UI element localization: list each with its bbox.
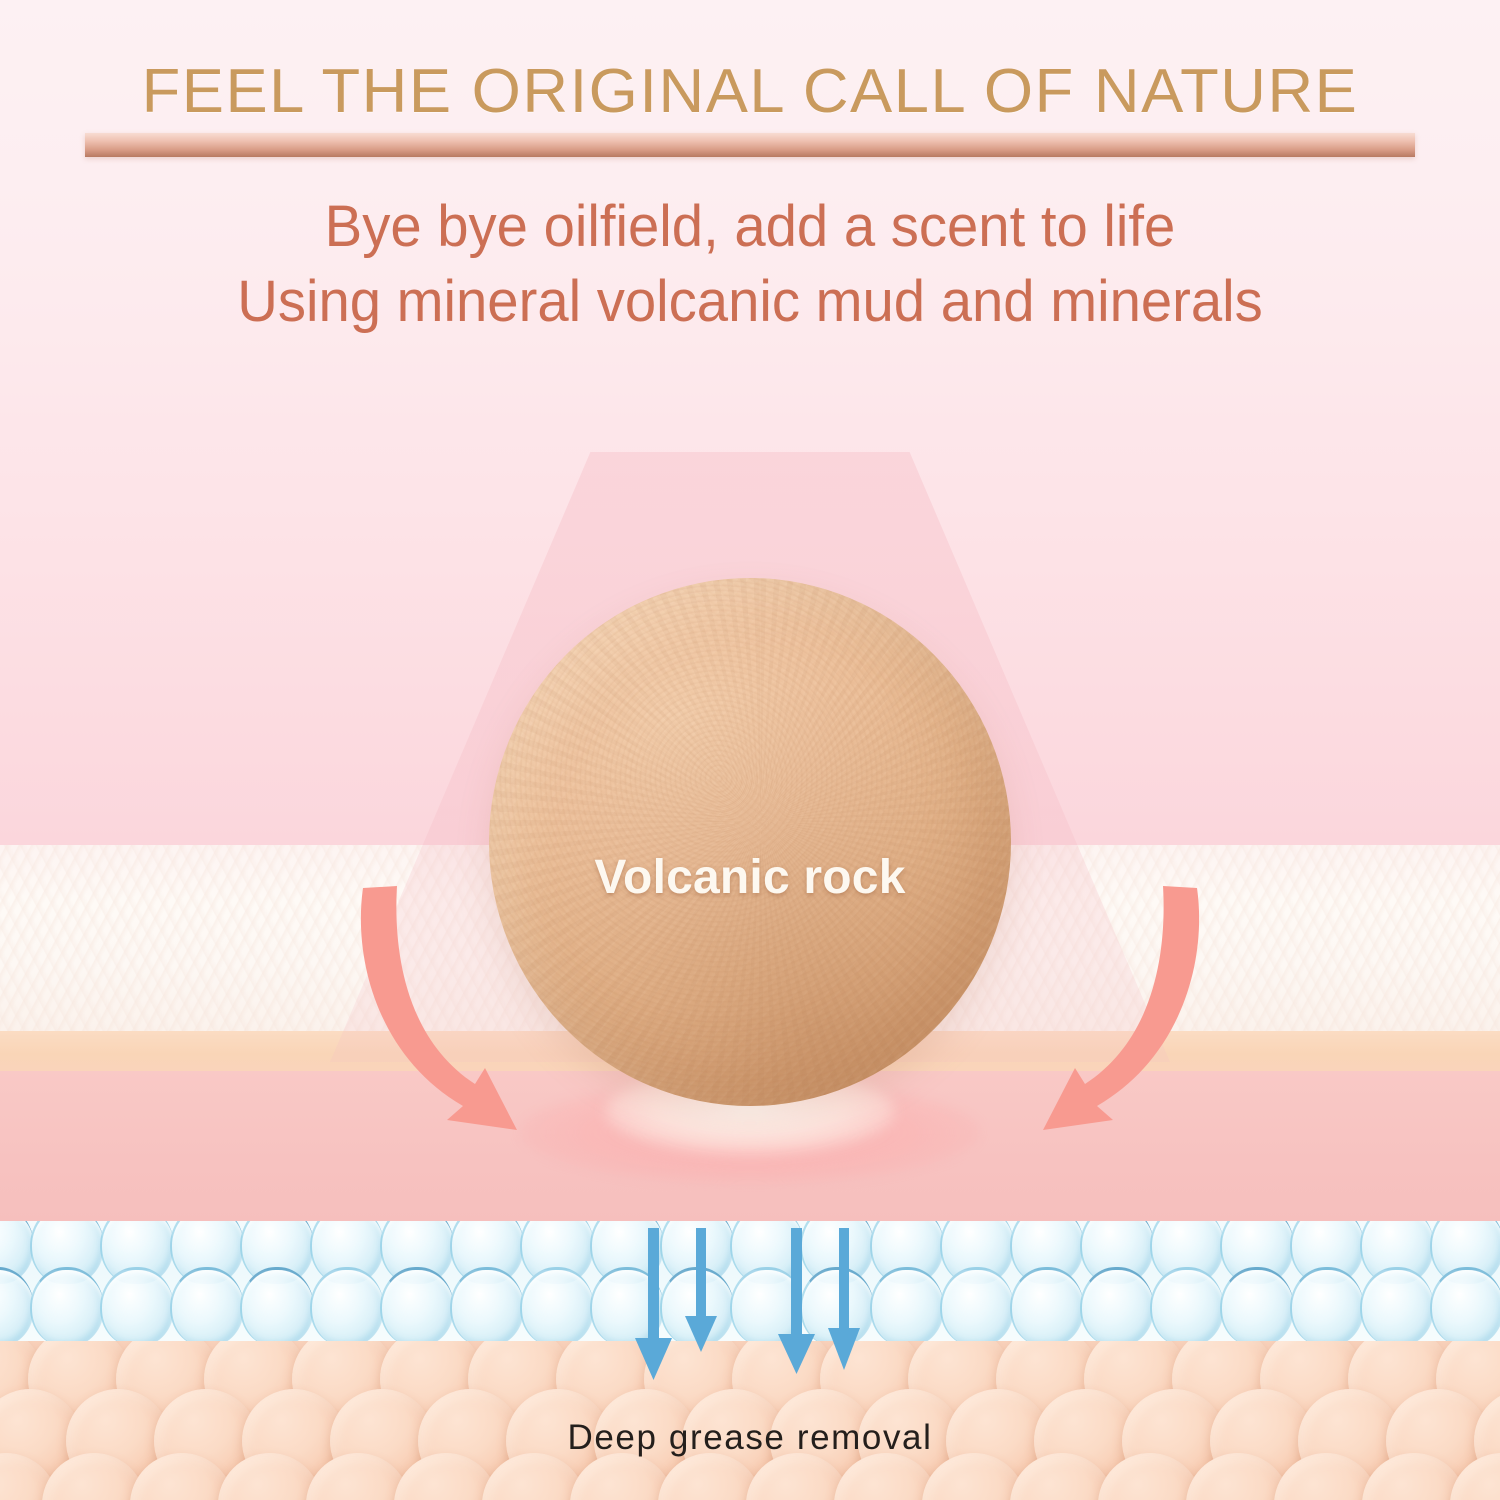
bubble-row-bottom — [0, 1267, 1500, 1343]
title-underline-bar — [85, 133, 1415, 157]
subtitle-line-1: Bye bye oilfield, add a scent to life — [23, 189, 1478, 264]
page-title: FEEL THE ORIGINAL CALL OF NATURE — [0, 0, 1500, 127]
header-block: FEEL THE ORIGINAL CALL OF NATURE Bye bye… — [0, 0, 1500, 340]
cell-bubble — [100, 1267, 174, 1343]
cell-bubble — [730, 1267, 804, 1343]
cell-bubble — [1220, 1267, 1294, 1343]
cell-bubble-layer — [0, 1221, 1500, 1343]
cell-bubble — [520, 1267, 594, 1343]
cell-bubble — [800, 1267, 874, 1343]
subtitle-block: Bye bye oilfield, add a scent to life Us… — [23, 157, 1478, 340]
cell-bubble — [1080, 1267, 1154, 1343]
product-infographic-poster: Volcanic rock — [0, 0, 1500, 1500]
cell-bubble — [240, 1267, 314, 1343]
deep-grease-removal-caption: Deep grease removal — [0, 1418, 1500, 1458]
volcanic-rock-sphere: Volcanic rock — [489, 578, 1011, 1106]
cell-bubble — [0, 1267, 34, 1343]
cell-bubble — [1430, 1267, 1500, 1343]
cell-bubble — [170, 1267, 244, 1343]
cell-bubble — [310, 1267, 384, 1343]
cell-bubble — [1360, 1267, 1434, 1343]
cell-bubble — [590, 1267, 664, 1343]
cell-bubble — [660, 1267, 734, 1343]
cell-bubble — [30, 1267, 104, 1343]
cell-bubble — [450, 1267, 524, 1343]
cell-bubble — [1290, 1267, 1364, 1343]
subtitle-line-2: Using mineral volcanic mud and minerals — [23, 264, 1478, 339]
sphere-bottom-shading — [489, 578, 1011, 1106]
fat-cell-row — [0, 1453, 1500, 1500]
volcanic-rock-label: Volcanic rock — [489, 850, 1011, 905]
cell-bubble — [1150, 1267, 1224, 1343]
cell-bubble — [380, 1267, 454, 1343]
fat-cell — [1450, 1453, 1500, 1500]
cell-bubble — [940, 1267, 1014, 1343]
cell-bubble — [870, 1267, 944, 1343]
cell-bubble — [1010, 1267, 1084, 1343]
